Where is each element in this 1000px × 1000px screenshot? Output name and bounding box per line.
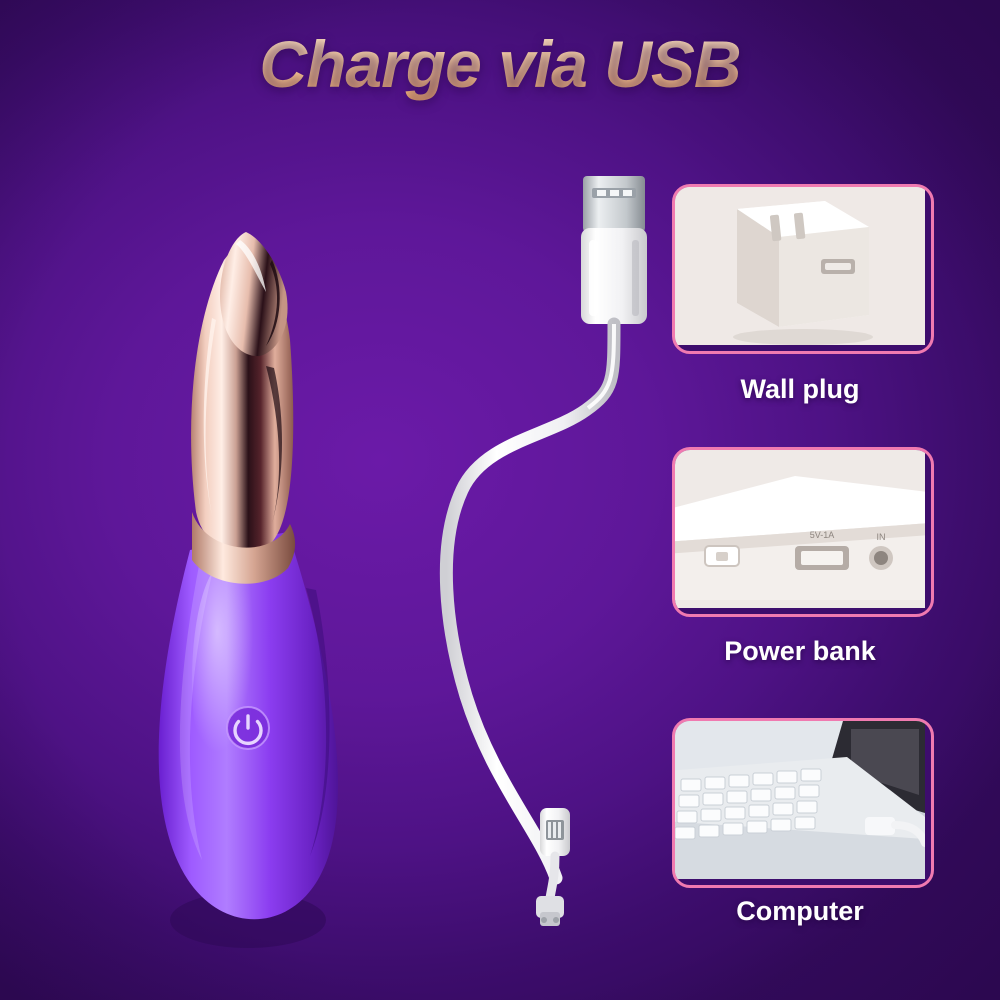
product-illustration <box>120 120 360 960</box>
usb-a-plug <box>581 176 647 324</box>
product-infographic: Charge via USB <box>0 0 1000 1000</box>
power-icon <box>227 707 269 749</box>
magnetic-charging-pin <box>536 808 570 926</box>
laptop-icon <box>675 721 925 879</box>
page-title: Charge via USB <box>0 26 1000 102</box>
caption-wall-plug: Wall plug <box>670 374 930 405</box>
port-label-in: IN <box>877 532 886 542</box>
card-power-bank: 5V-1A IN <box>672 447 934 617</box>
card-computer <box>672 718 934 888</box>
port-label-out: 5V-1A <box>810 530 835 540</box>
wall-charger-icon <box>675 187 925 345</box>
card-wall-plug <box>672 184 934 354</box>
caption-computer: Computer <box>670 896 930 927</box>
usb-cable-illustration <box>400 160 700 950</box>
caption-power-bank: Power bank <box>670 636 930 667</box>
power-bank-icon: 5V-1A IN <box>675 450 925 608</box>
